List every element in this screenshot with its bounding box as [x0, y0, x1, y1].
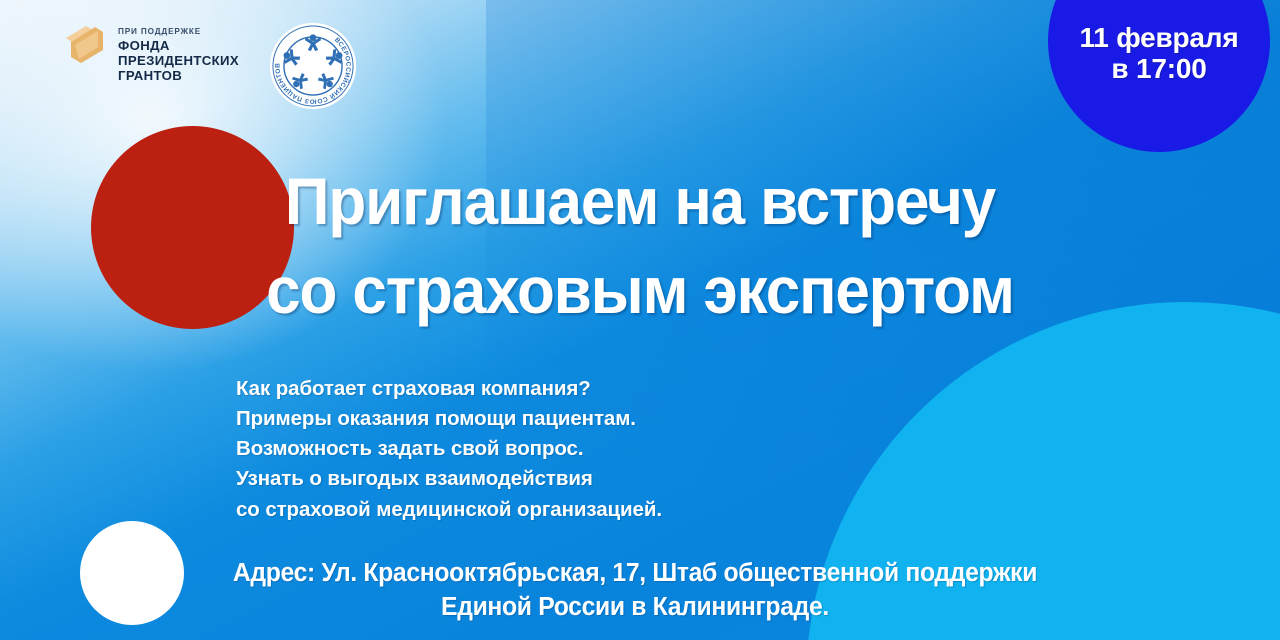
pgf-line-2: ПРЕЗИДЕНТСКИХ	[118, 53, 239, 68]
pgf-line-3: ГРАНТОВ	[118, 68, 239, 83]
patients-union-logo-icon: ВСЕРОССИЙСКИЙ СОЮЗ ПАЦИЕНТОВ ЗДОРОВЬЕ ДЛ…	[269, 22, 357, 110]
date-badge-time: в 17:00	[1040, 53, 1278, 84]
body-text-block: Как работает страховая компания? Примеры…	[236, 374, 662, 525]
address-line-1: Адрес: Ул. Краснооктябрьская, 17, Штаб о…	[19, 556, 1251, 590]
body-line: Узнать о выгодых взаимодействия	[236, 464, 662, 494]
address-block: Адрес: Ул. Краснооктябрьская, 17, Штаб о…	[19, 556, 1251, 625]
presidential-grants-fund-logo: ПРИ ПОДДЕРЖКЕ ФОНДА ПРЕЗИДЕНТСКИХ ГРАНТО…	[62, 22, 239, 83]
date-badge: 11 февраля в 17:00	[1040, 22, 1278, 85]
presidential-grants-wordmark: ПРИ ПОДДЕРЖКЕ ФОНДА ПРЕЗИДЕНТСКИХ ГРАНТО…	[118, 22, 239, 83]
poster-canvas: ПРИ ПОДДЕРЖКЕ ФОНДА ПРЕЗИДЕНТСКИХ ГРАНТО…	[0, 0, 1280, 640]
body-line: Возможность задать свой вопрос.	[236, 434, 662, 464]
address-line-2: Единой России в Калининграде.	[19, 590, 1251, 624]
headline-line-2: со страховым экспертом	[38, 257, 1241, 324]
body-line: со страховой медицинской организацией.	[236, 495, 662, 525]
date-badge-date: 11 февраля	[1040, 22, 1278, 53]
pgf-line-1: ФОНДА	[118, 38, 239, 53]
presidential-grants-mark-icon	[62, 22, 108, 70]
pgf-superline: ПРИ ПОДДЕРЖКЕ	[118, 27, 239, 36]
logo-bar: ПРИ ПОДДЕРЖКЕ ФОНДА ПРЕЗИДЕНТСКИХ ГРАНТО…	[62, 22, 357, 110]
headline-line-1: Приглашаем на встречу	[38, 168, 1241, 235]
page-title: Приглашаем на встречу со страховым экспе…	[38, 168, 1241, 325]
body-line: Как работает страховая компания?	[236, 374, 662, 404]
body-line: Примеры оказания помощи пациентам.	[236, 404, 662, 434]
